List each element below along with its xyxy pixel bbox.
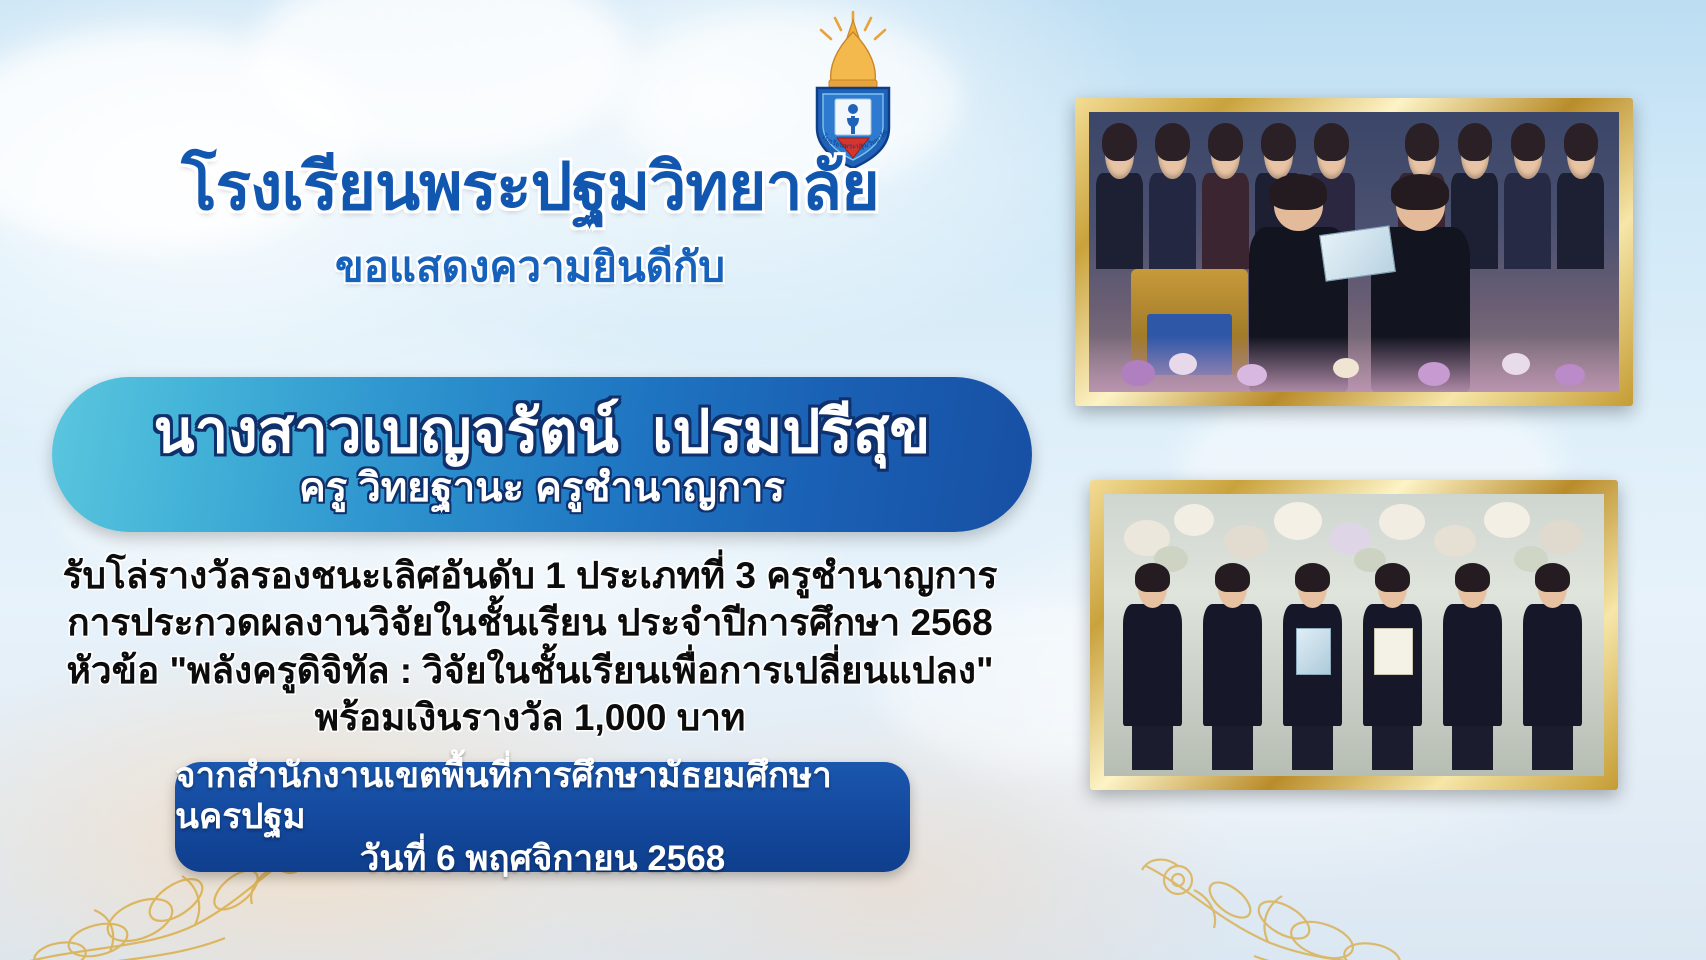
flower <box>1333 358 1359 378</box>
award-description-block: รับโล่รางวัลรองชนะเลิศอันดับ 1 ประเภทที่… <box>0 552 1060 741</box>
group-award-photo <box>1090 480 1618 790</box>
award-line: รับโล่รางวัลรองชนะเลิศอันดับ 1 ประเภทที่… <box>0 552 1060 599</box>
person <box>1199 567 1266 770</box>
award-ceremony-photo <box>1075 98 1633 406</box>
flower <box>1169 353 1197 375</box>
honoree-name-banner: นางสาวเบญจรัตน์ เปรมปรีสุข ครู วิทยฐานะ … <box>52 377 1032 532</box>
awarding-organization: จากสำนักงานเขตพื้นที่การศึกษามัธยมศึกษาน… <box>175 755 910 838</box>
congrats-intro-text: ขอแสดงความยินดีกับ <box>0 234 1060 300</box>
headline-block: โรงเรียนพระปฐมวิทยาลัย ขอแสดงความยินดีกั… <box>0 150 1060 300</box>
gold-floral-flourish-icon <box>1006 770 1466 960</box>
flower <box>1418 362 1450 386</box>
award-plaque <box>1319 225 1396 281</box>
person <box>1439 567 1506 770</box>
award-line: พร้อมเงินรางวัล 1,000 บาท <box>0 694 1060 741</box>
person <box>1359 567 1426 770</box>
congratulation-poster: โรงเรียนพระปฐมวิทยาลัย โรงเรียนพระปฐมวิท… <box>0 0 1706 960</box>
person <box>1279 567 1346 770</box>
award-line: หัวข้อ "พลังครูดิจิทัล : วิจัยในชั้นเรีย… <box>0 647 1060 694</box>
footer-banner: จากสำนักงานเขตพื้นที่การศึกษามัธยมศึกษาน… <box>175 762 910 872</box>
honoree-name: นางสาวเบญจรัตน์ เปรมปรีสุข <box>154 400 931 463</box>
school-name-heading: โรงเรียนพระปฐมวิทยาลัย <box>0 150 1060 224</box>
honoree-position: ครู วิทยฐานะ ครูชำนาญการ <box>299 467 785 509</box>
photo-content <box>1104 494 1604 776</box>
award-date: วันที่ 6 พฤศจิกายน 2568 <box>360 838 725 879</box>
photo-content <box>1089 112 1619 392</box>
award-line: การประกวดผลงานวิจัยในชั้นเรียน ประจำปีกา… <box>0 599 1060 646</box>
person <box>1519 567 1586 770</box>
person <box>1119 567 1186 770</box>
